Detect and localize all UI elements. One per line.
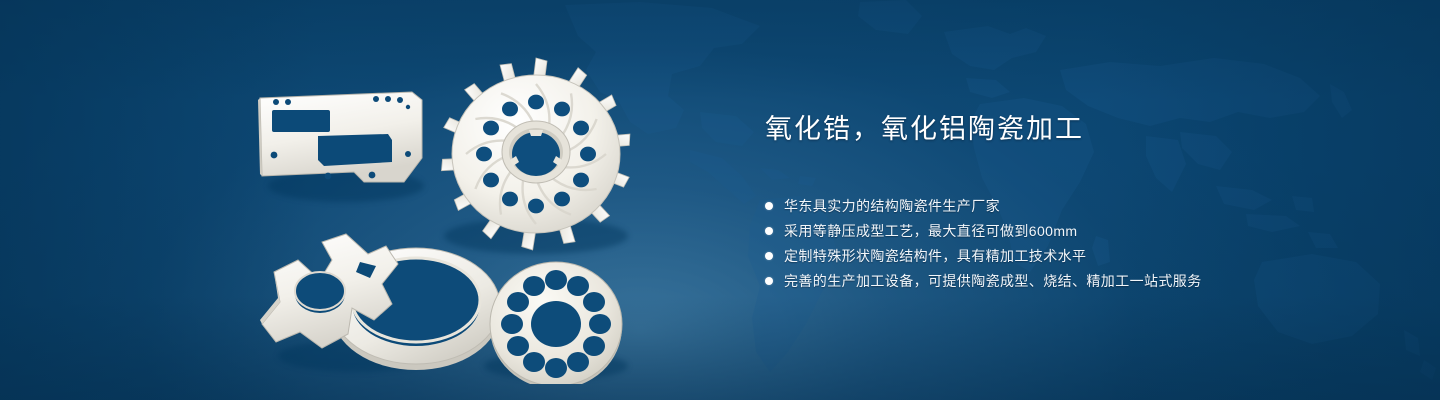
banner-text-block: 氧化锆，氧化铝陶瓷加工 华东具实力的结构陶瓷件生产厂家 采用等静压成型工艺，最大… [765, 112, 1325, 289]
bullet-dot-icon [765, 252, 773, 260]
list-item: 完善的生产加工设备，可提供陶瓷成型、烧结、精加工一站式服务 [765, 273, 1325, 289]
page-title: 氧化锆，氧化铝陶瓷加工 [765, 112, 1325, 146]
list-item: 采用等静压成型工艺，最大直径可做到600mm [765, 223, 1325, 239]
list-item: 定制特殊形状陶瓷结构件，具有精加工技术水平 [765, 248, 1325, 264]
bullet-dot-icon [765, 277, 773, 285]
list-item: 华东具实力的结构陶瓷件生产厂家 [765, 198, 1325, 214]
list-item-label: 华东具实力的结构陶瓷件生产厂家 [784, 198, 1000, 214]
part-perforated-ring-plate [490, 262, 622, 384]
part-impeller-disc [440, 58, 633, 250]
hero-banner: 氧化锆，氧化铝陶瓷加工 华东具实力的结构陶瓷件生产厂家 采用等静压成型工艺，最大… [0, 0, 1440, 400]
ceramic-parts-photo [236, 36, 676, 384]
list-item-label: 完善的生产加工设备，可提供陶瓷成型、烧结、精加工一站式服务 [784, 273, 1202, 289]
bullet-dot-icon [765, 202, 773, 210]
bullet-dot-icon [765, 227, 773, 235]
part-rectangular-plate [258, 92, 422, 182]
feature-list: 华东具实力的结构陶瓷件生产厂家 采用等静压成型工艺，最大直径可做到600mm 定… [765, 198, 1325, 289]
list-item-label: 定制特殊形状陶瓷结构件，具有精加工技术水平 [784, 248, 1086, 264]
list-item-label: 采用等静压成型工艺，最大直径可做到600mm [784, 223, 1077, 239]
